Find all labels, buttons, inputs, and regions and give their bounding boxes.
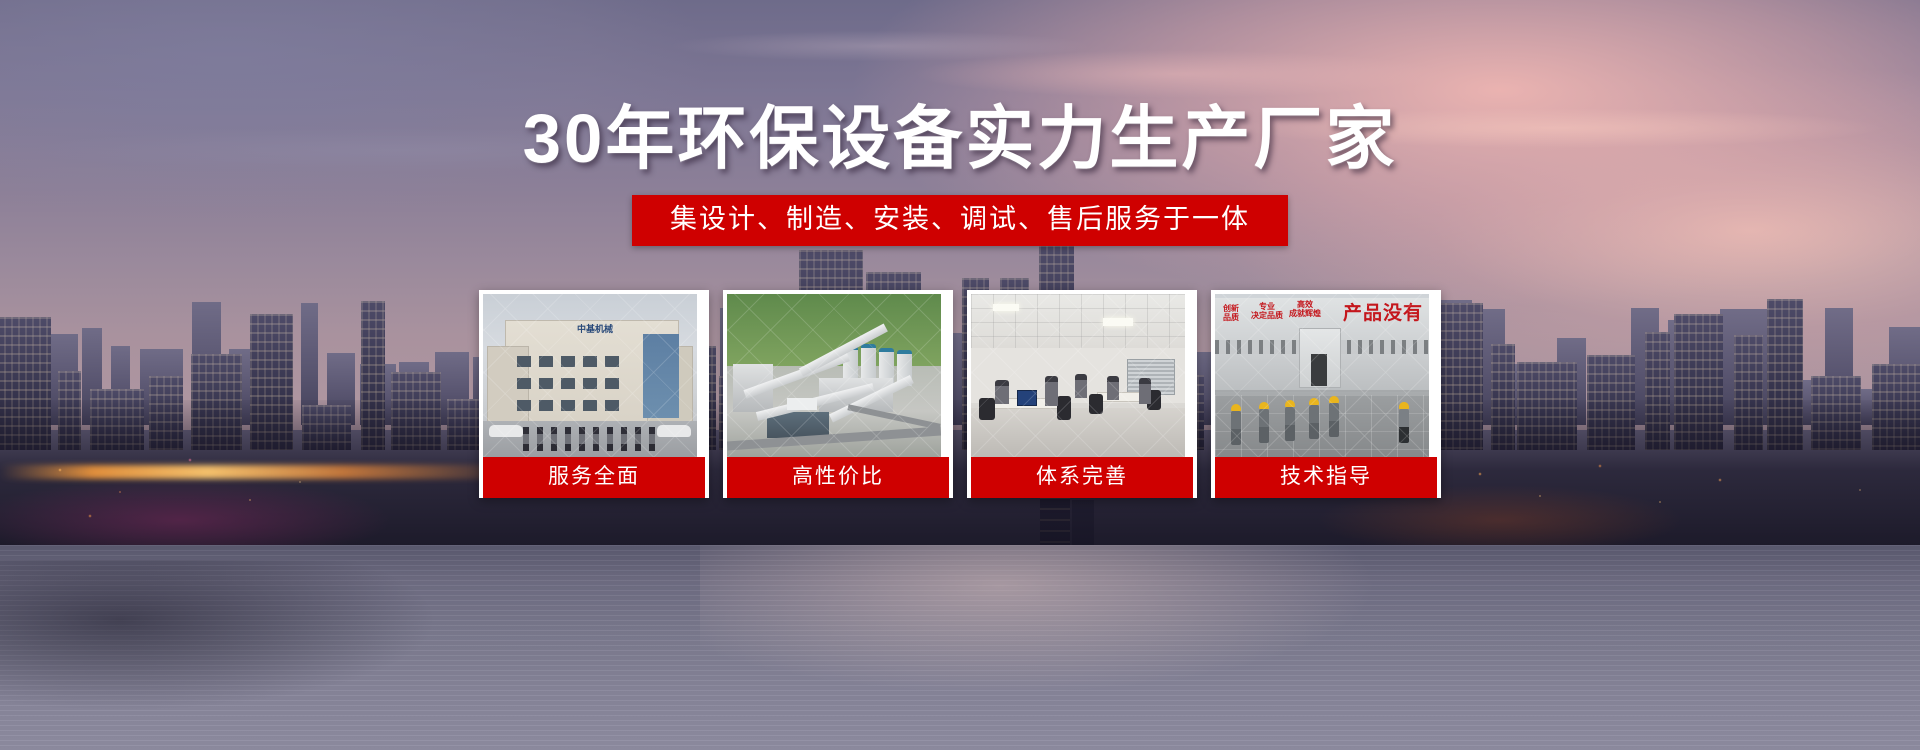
card-thumbnail-factory-workers: 产品没有 创新品质 专业决定品质 高效成就辉煌 [1215, 294, 1429, 457]
card-thumbnail-office-building: 中基机械 [483, 294, 697, 457]
hero-banner: 30年环保设备实力生产厂家 集设计、制造、安装、调试、售后服务于一体 中基机械 [0, 0, 1920, 750]
card-label: 服务全面 [483, 457, 705, 498]
card-label: 高性价比 [727, 457, 949, 498]
feature-card-guidance[interactable]: 产品没有 创新品质 专业决定品质 高效成就辉煌 [1211, 290, 1441, 498]
card-label: 体系完善 [971, 457, 1193, 498]
feature-card-system[interactable]: 体系完善 [967, 290, 1197, 498]
feature-card-value[interactable]: 高性价比 [723, 290, 953, 498]
subtitle-banner: 集设计、制造、安装、调试、售后服务于一体 [632, 195, 1288, 246]
banner-content: 30年环保设备实力生产厂家 集设计、制造、安装、调试、售后服务于一体 中基机械 [0, 0, 1920, 750]
card-thumbnail-industrial-plant [727, 294, 941, 457]
factory-wall-slogan: 产品没有 [1343, 298, 1423, 325]
page-title: 30年环保设备实力生产厂家 [523, 104, 1398, 173]
card-label: 技术指导 [1215, 457, 1437, 498]
building-sign-text: 中基机械 [557, 323, 633, 335]
feature-card-list: 中基机械 [479, 290, 1441, 498]
feature-card-service[interactable]: 中基机械 [479, 290, 709, 498]
card-thumbnail-office-interior [971, 294, 1185, 457]
